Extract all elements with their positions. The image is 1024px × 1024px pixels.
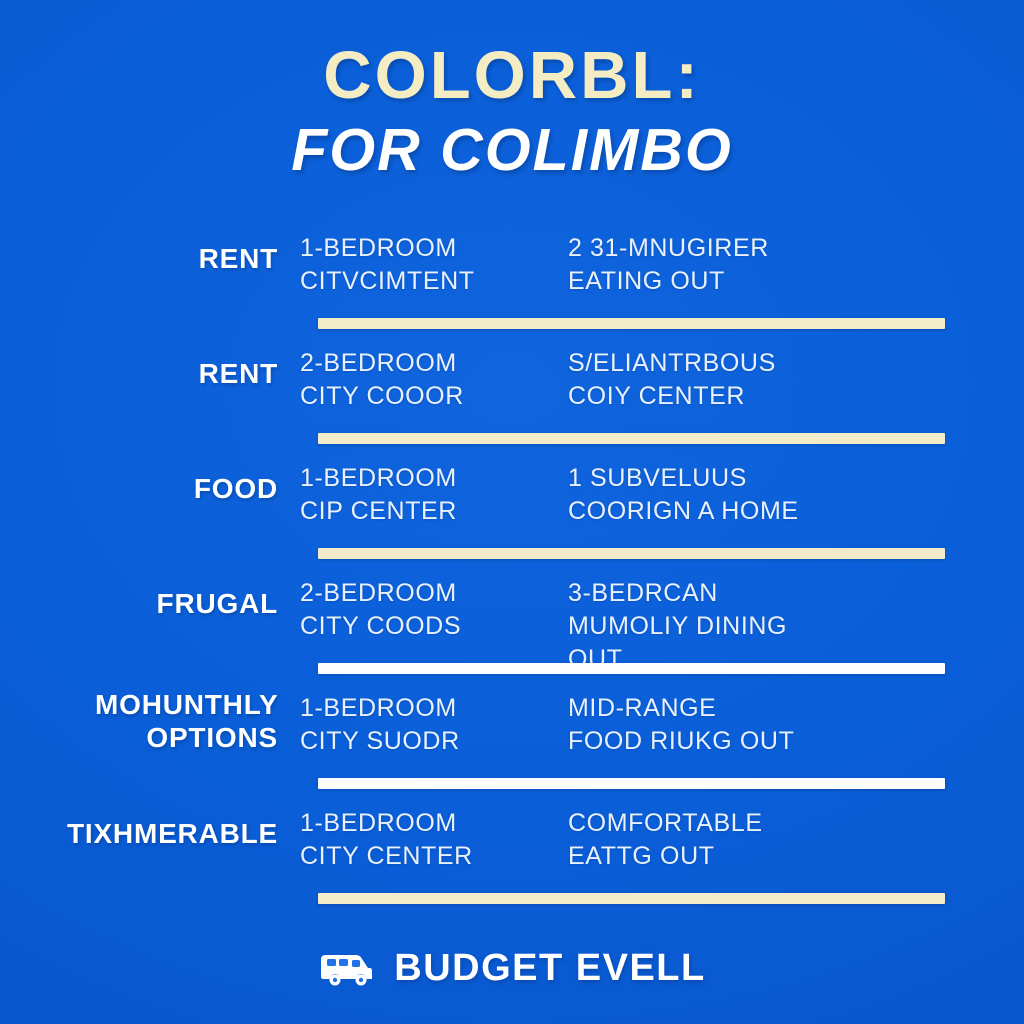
table-row: TIXHMERABLE 1-BEDROOM CITY CENTER COMFOR…	[0, 803, 1024, 918]
row-category-line2: OPTIONS	[146, 722, 278, 753]
row-left-cell: 2-BEDROOM CITY COOOR	[300, 343, 568, 413]
row-category-label: MOHUNTHLY OPTIONS	[0, 688, 300, 754]
footer-label: BUDGET EVELL	[394, 947, 705, 990]
table-row: FRUGAL 2-BEDROOM CITY COODS 3-BEDRCAN MU…	[0, 573, 1024, 688]
row-divider	[318, 433, 945, 444]
row-divider	[318, 548, 945, 559]
infographic-poster: COLORBL: FOR COLIMBO RENT 1-BEDROOM CITV…	[0, 0, 1024, 1024]
row-left-cell: 1-BEDROOM CIP CENTER	[300, 458, 568, 528]
row-left-line1: 1-BEDROOM	[300, 232, 568, 265]
row-left-line2: CITY COOOR	[300, 380, 568, 413]
row-right-cell: MID-RANGE FOOD RIUKG OUT	[568, 688, 836, 758]
table-row: FOOD 1-BEDROOM CIP CENTER 1 SUBVELUUS CO…	[0, 458, 1024, 573]
row-left-line2: CITY SUODR	[300, 725, 568, 758]
row-category-label: FOOD	[0, 458, 300, 505]
row-left-line2: CITY COODS	[300, 610, 568, 643]
page-subtitle: FOR COLIMBO	[0, 120, 1024, 180]
row-left-cell: 1-BEDROOM CITY CENTER	[300, 803, 568, 873]
row-right-line1: 2 31-MNUGIRER	[568, 232, 836, 265]
footer: BUDGET EVELL	[0, 947, 1024, 990]
row-right-line2: COORIGN A HOME	[568, 495, 836, 528]
title-block: COLORBL: FOR COLIMBO	[0, 42, 1024, 181]
row-left-cell: 1-BEDROOM CITY SUODR	[300, 688, 568, 758]
row-left-line1: 2-BEDROOM	[300, 577, 568, 610]
row-right-line2: COIY CENTER	[568, 380, 836, 413]
table-row: RENT 1-BEDROOM CITVCIMTENT 2 31-MNUGIRER…	[0, 228, 1024, 343]
row-left-line2: CITVCIMTENT	[300, 265, 568, 298]
row-left-cell: 2-BEDROOM CITY COODS	[300, 573, 568, 643]
page-title: COLORBL:	[0, 42, 1024, 110]
row-right-line1: 3-BEDRCAN	[568, 577, 836, 610]
row-right-cell: COMFORTABLE EATTG OUT	[568, 803, 836, 873]
row-right-line1: 1 SUBVELUUS	[568, 462, 836, 495]
table-row: RENT 2-BEDROOM CITY COOOR S/ELIANTRBOUS …	[0, 343, 1024, 458]
row-left-line2: CIP CENTER	[300, 495, 568, 528]
row-category-label: RENT	[0, 343, 300, 390]
row-right-line1: MID-RANGE	[568, 692, 836, 725]
row-left-line1: 1-BEDROOM	[300, 692, 568, 725]
row-right-line2: EATTG OUT	[568, 840, 836, 873]
row-right-line2: FOOD RIUKG OUT	[568, 725, 836, 758]
row-divider	[318, 663, 945, 674]
row-right-line1: S/ELIANTRBOUS	[568, 347, 836, 380]
row-left-line1: 1-BEDROOM	[300, 462, 568, 495]
rows-container: RENT 1-BEDROOM CITVCIMTENT 2 31-MNUGIRER…	[0, 228, 1024, 918]
table-row: MOHUNTHLY OPTIONS 1-BEDROOM CITY SUODR M…	[0, 688, 1024, 803]
row-divider	[318, 778, 945, 789]
row-right-line1: COMFORTABLE	[568, 807, 836, 840]
row-category-label: FRUGAL	[0, 573, 300, 620]
row-left-line1: 2-BEDROOM	[300, 347, 568, 380]
row-divider	[318, 318, 945, 329]
row-right-cell: S/ELIANTRBOUS COIY CENTER	[568, 343, 836, 413]
row-right-cell: 2 31-MNUGIRER EATING OUT	[568, 228, 836, 298]
row-right-line2: EATING OUT	[568, 265, 836, 298]
row-right-cell: 3-BEDRCAN MUMOLIY DINING OUT	[568, 573, 836, 676]
truck-icon	[318, 949, 376, 989]
row-right-cell: 1 SUBVELUUS COORIGN A HOME	[568, 458, 836, 528]
row-category-label: TIXHMERABLE	[0, 803, 300, 850]
row-category-line1: MOHUNTHLY	[95, 689, 278, 720]
row-category-label: RENT	[0, 228, 300, 275]
row-divider	[318, 893, 945, 904]
row-left-cell: 1-BEDROOM CITVCIMTENT	[300, 228, 568, 298]
row-left-line1: 1-BEDROOM	[300, 807, 568, 840]
row-left-line2: CITY CENTER	[300, 840, 568, 873]
